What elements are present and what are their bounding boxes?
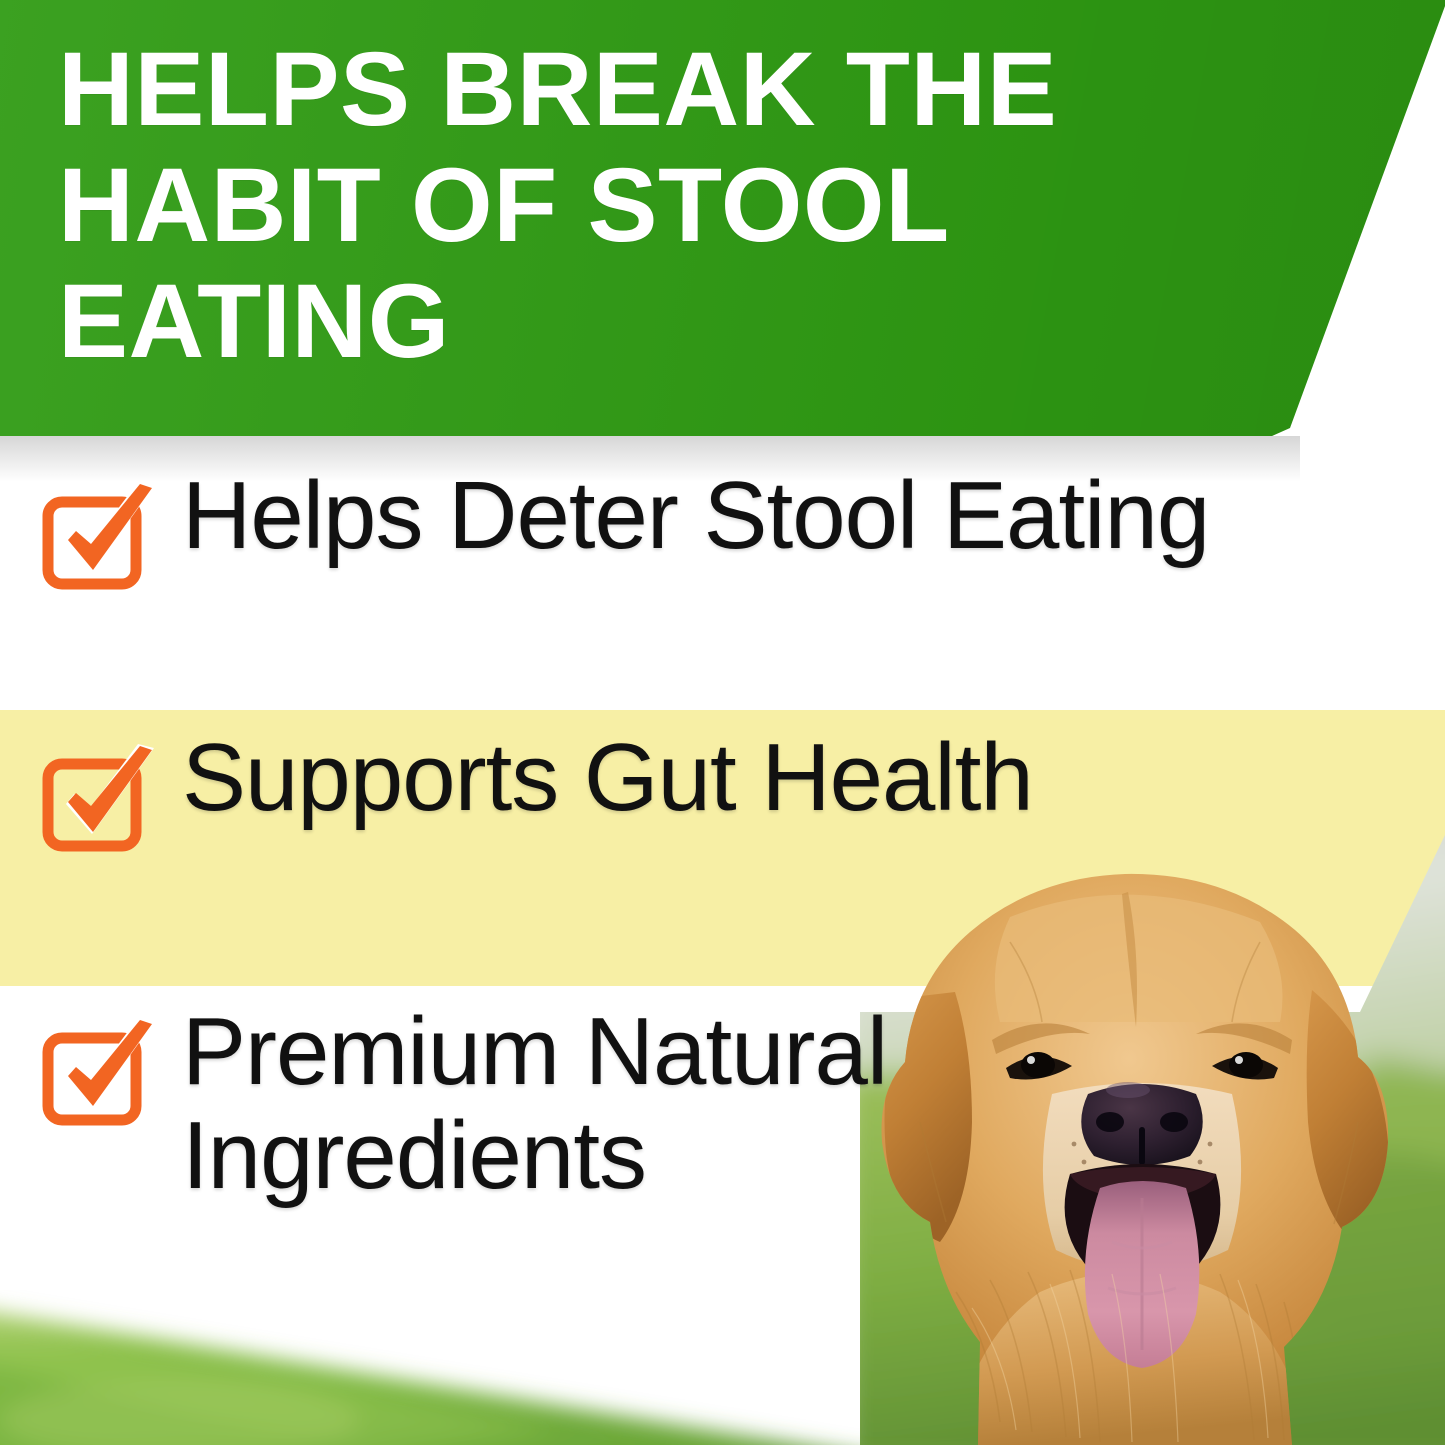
checked-checkbox-icon: [40, 1016, 160, 1134]
benefit-row: Supports Gut Health: [0, 726, 1445, 860]
benefit-row: Helps Deter Stool Eating: [0, 464, 1445, 598]
checked-checkbox-icon: [40, 742, 160, 860]
benefits-list: Helps Deter Stool Eating Supports Gut He…: [0, 436, 1445, 1445]
benefit-label: Supports Gut Health: [182, 726, 1033, 830]
benefit-label: Premium Natural Ingredients: [182, 1000, 902, 1208]
benefit-label: Helps Deter Stool Eating: [182, 464, 1209, 568]
checked-checkbox-icon: [40, 480, 160, 598]
infographic-canvas: HELPS BREAK THE HABIT OF STOOL EATING He…: [0, 0, 1445, 1445]
benefit-row: Premium Natural Ingredients: [0, 1000, 1445, 1208]
header-banner: HELPS BREAK THE HABIT OF STOOL EATING: [0, 0, 1445, 436]
headline-text: HELPS BREAK THE HABIT OF STOOL EATING: [58, 32, 1273, 380]
